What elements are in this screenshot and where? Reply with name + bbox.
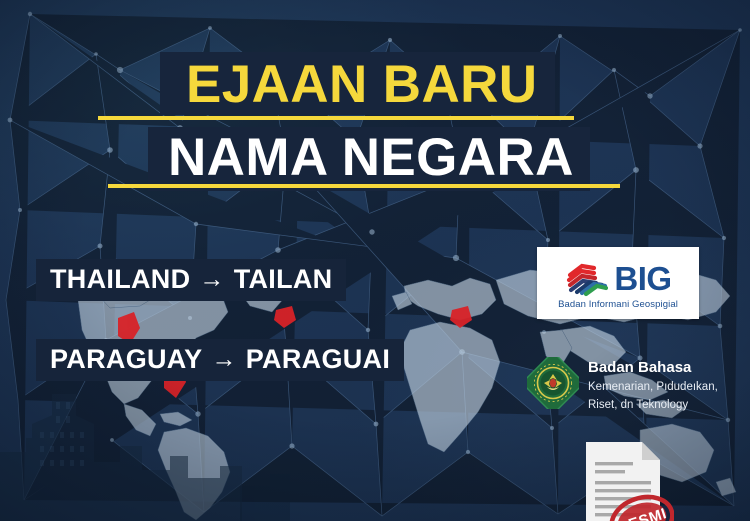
arrow-icon: → <box>199 265 224 294</box>
badan-bahasa-block: Badan Bahasa Kemenarian, Pıdudeıkan, Ris… <box>527 357 750 413</box>
big-logo-tagline: Badan Informani Geospigial <box>558 299 678 310</box>
badan-bahasa-subtitle-line-1: Kemenarian, Pıdudeıkan, <box>588 381 718 393</box>
arrow-icon: → <box>211 345 236 374</box>
big-logo-wordmark: BIG <box>614 262 671 295</box>
headline-underline-2 <box>108 184 620 188</box>
headline-line-2: NAMA NEGARA <box>168 131 574 184</box>
country-new-name: PARAGUAI <box>246 344 390 375</box>
badan-bahasa-emblem-icon <box>527 357 579 409</box>
headline-band-2: NAMA NEGARA <box>148 127 590 191</box>
country-new-name: TAILAN <box>234 264 333 295</box>
country-old-name: PARAGUAY <box>50 344 202 375</box>
big-logo-card: BIG Badan Informani Geospigial <box>537 247 699 319</box>
name-change-paraguay: PARAGUAY → PARAGUAI <box>36 339 404 381</box>
badan-bahasa-subtitle-line-2: Riset, dn Teknology <box>588 399 688 411</box>
poster-canvas: EJAAN BARU NAMA NEGARA THAILAND → TAILAN… <box>0 0 750 521</box>
big-logo-mark-icon <box>564 261 608 297</box>
country-old-name: THAILAND <box>50 264 190 295</box>
headline-underline-1 <box>98 116 574 120</box>
name-change-thailand: THAILAND → TAILAN <box>36 259 346 301</box>
headline-line-1: EJAAN BARU <box>186 58 537 111</box>
official-document-icon: RESMI <box>578 440 674 521</box>
headline-block: EJAAN BARU NAMA NEGARA <box>0 52 750 191</box>
badan-bahasa-title: Badan Bahasa <box>588 359 691 376</box>
headline-band-1: EJAAN BARU <box>160 52 555 115</box>
